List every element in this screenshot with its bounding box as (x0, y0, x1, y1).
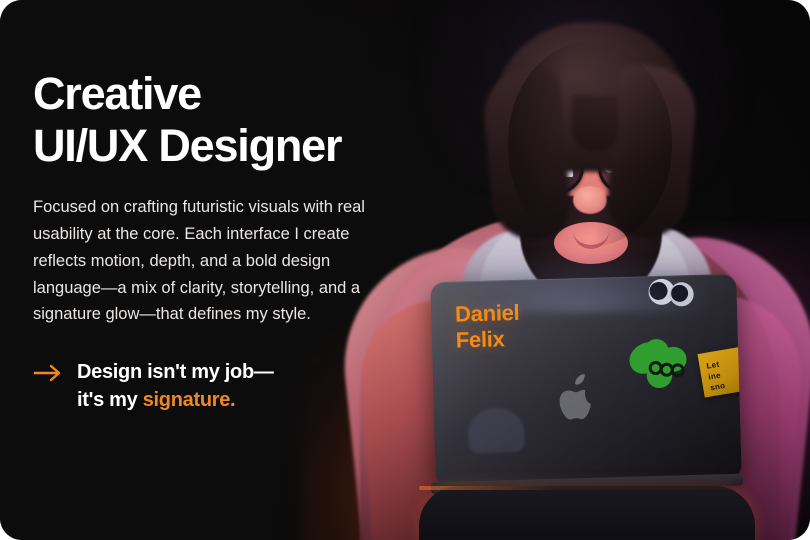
face-shading (508, 42, 672, 247)
tagline-line-1: Design isn't my job— (77, 358, 274, 386)
laptop: Daniel Felix (425, 278, 755, 540)
ghost-sticker (468, 408, 525, 454)
tagline-text: Design isn't my job— it's my signature. (77, 358, 274, 415)
laptop-base (419, 486, 755, 540)
tagline-accent-word: signature. (143, 389, 236, 411)
page-title: Creative UI/UX Designer (33, 68, 433, 172)
laptop-name-line-2: Felix (455, 325, 520, 352)
tagline: Design isn't my job— it's my signature. (33, 358, 433, 415)
headline-line-2: UI/UX Designer (33, 120, 433, 172)
body-paragraph: Focused on crafting futuristic visuals w… (33, 194, 393, 328)
yellow-note-text: Let ine sno (697, 347, 741, 395)
laptop-base-rim-light (419, 486, 755, 490)
arrow-right-icon (33, 363, 63, 383)
text-column: Creative UI/UX Designer Focused on craft… (33, 68, 433, 415)
headline-line-1: Creative (33, 68, 433, 120)
yellow-note-sticker: Let ine sno (697, 347, 741, 398)
apple-logo-sticker (551, 370, 598, 423)
tagline-line-2-prefix: it's my (77, 389, 143, 411)
tagline-line-2: it's my signature. (77, 386, 274, 414)
screen-light-spill (450, 252, 710, 312)
hero-card: 8 Daniel Felix (0, 0, 810, 540)
green-blob-sticker (628, 337, 696, 397)
